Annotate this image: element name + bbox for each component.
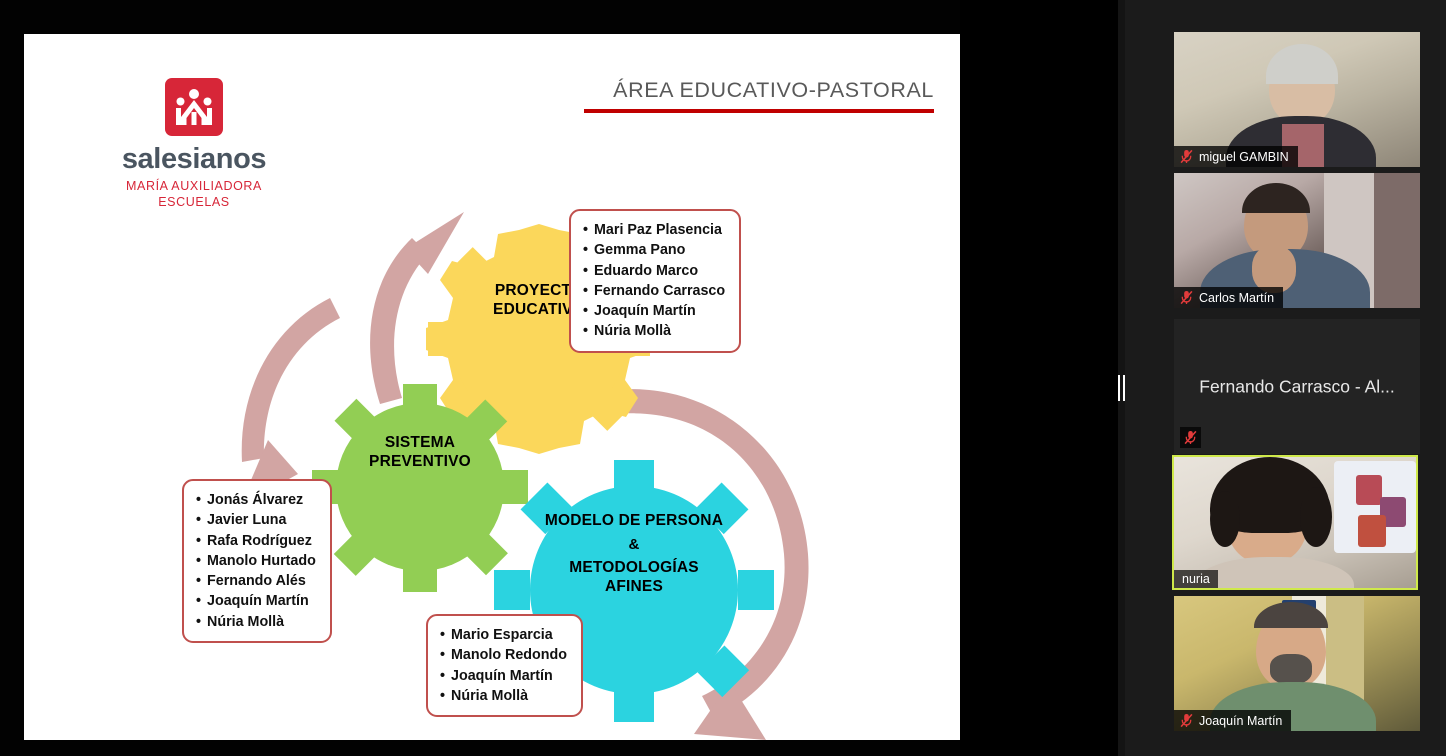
participant-tile-4[interactable]: Joaquín Martín bbox=[1174, 596, 1420, 731]
names-box-sistema-preventivo: Jonás Álvarez Javier Luna Rafa Rodríguez… bbox=[182, 479, 332, 643]
list-item: Javier Luna bbox=[196, 510, 316, 530]
mic-muted-icon bbox=[1180, 713, 1193, 728]
list-item: Mario Esparcia bbox=[440, 625, 567, 645]
participant-tile-1[interactable]: Carlos Martín bbox=[1174, 173, 1420, 308]
list-item: Fernando Carrasco bbox=[583, 281, 725, 301]
handle-line-left bbox=[1118, 375, 1120, 401]
participant-name-bar-0: miguel GAMBIN bbox=[1174, 146, 1298, 167]
participant-name-2: Fernando Carrasco - Al... bbox=[1174, 376, 1420, 397]
list-item: Joaquín Martín bbox=[583, 301, 725, 321]
arrow-upper-left bbox=[370, 212, 464, 404]
list-item: Gemma Pano bbox=[583, 240, 725, 260]
mic-muted-icon bbox=[1184, 430, 1197, 445]
mic-muted-icon bbox=[1180, 149, 1193, 164]
names-list-sistema: Jonás Álvarez Javier Luna Rafa Rodríguez… bbox=[196, 490, 316, 632]
participant-name-1: Carlos Martín bbox=[1199, 291, 1274, 305]
list-item: Rafa Rodríguez bbox=[196, 531, 316, 551]
participant-filmstrip[interactable]: miguel GAMBIN Carlos Martín bbox=[1125, 0, 1446, 756]
list-item: Joaquín Martín bbox=[196, 591, 316, 611]
participant-tile-3[interactable]: nuria bbox=[1172, 455, 1418, 590]
list-item: Manolo Redondo bbox=[440, 645, 567, 665]
participant-name-bar-1: Carlos Martín bbox=[1174, 287, 1283, 308]
participant-name-4: Joaquín Martín bbox=[1199, 714, 1282, 728]
list-item: Joaquín Martín bbox=[440, 666, 567, 686]
participant-name-bar-3: nuria bbox=[1174, 570, 1218, 588]
list-item: Núria Mollà bbox=[583, 321, 725, 341]
participant-name-0: miguel GAMBIN bbox=[1199, 150, 1289, 164]
names-box-modelo-persona: Mario Esparcia Manolo Redondo Joaquín Ma… bbox=[426, 614, 583, 717]
list-item: Mari Paz Plasencia bbox=[583, 220, 725, 240]
list-item: Manolo Hurtado bbox=[196, 551, 316, 571]
list-item: Eduardo Marco bbox=[583, 261, 725, 281]
participant-name-bar-4: Joaquín Martín bbox=[1174, 710, 1291, 731]
participant-video-3 bbox=[1174, 457, 1416, 588]
shared-screen-region[interactable]: salesianos MARÍA AUXILIADORA ESCUELAS ÁR… bbox=[0, 0, 1118, 756]
presentation-slide: salesianos MARÍA AUXILIADORA ESCUELAS ÁR… bbox=[24, 34, 960, 740]
mic-muted-icon bbox=[1180, 290, 1193, 305]
list-item: Jonás Álvarez bbox=[196, 490, 316, 510]
names-box-proyecto-educativo: Mari Paz Plasencia Gemma Pano Eduardo Ma… bbox=[569, 209, 741, 353]
names-list-proyecto: Mari Paz Plasencia Gemma Pano Eduardo Ma… bbox=[583, 220, 725, 342]
meeting-screen: salesianos MARÍA AUXILIADORA ESCUELAS ÁR… bbox=[0, 0, 1446, 756]
collapse-panel-handle[interactable] bbox=[1118, 375, 1125, 401]
gear-sistema-preventivo bbox=[312, 384, 528, 592]
names-list-modelo: Mario Esparcia Manolo Redondo Joaquín Ma… bbox=[440, 625, 567, 706]
participant-mic-chip-2 bbox=[1180, 427, 1201, 448]
list-item: Núria Mollà bbox=[196, 612, 316, 632]
list-item: Núria Mollà bbox=[440, 686, 567, 706]
participant-name-3: nuria bbox=[1182, 572, 1210, 586]
participant-tile-2[interactable]: Fernando Carrasco - Al... bbox=[1174, 319, 1420, 454]
participant-tile-0[interactable]: miguel GAMBIN bbox=[1174, 32, 1420, 167]
list-item: Fernando Alés bbox=[196, 571, 316, 591]
